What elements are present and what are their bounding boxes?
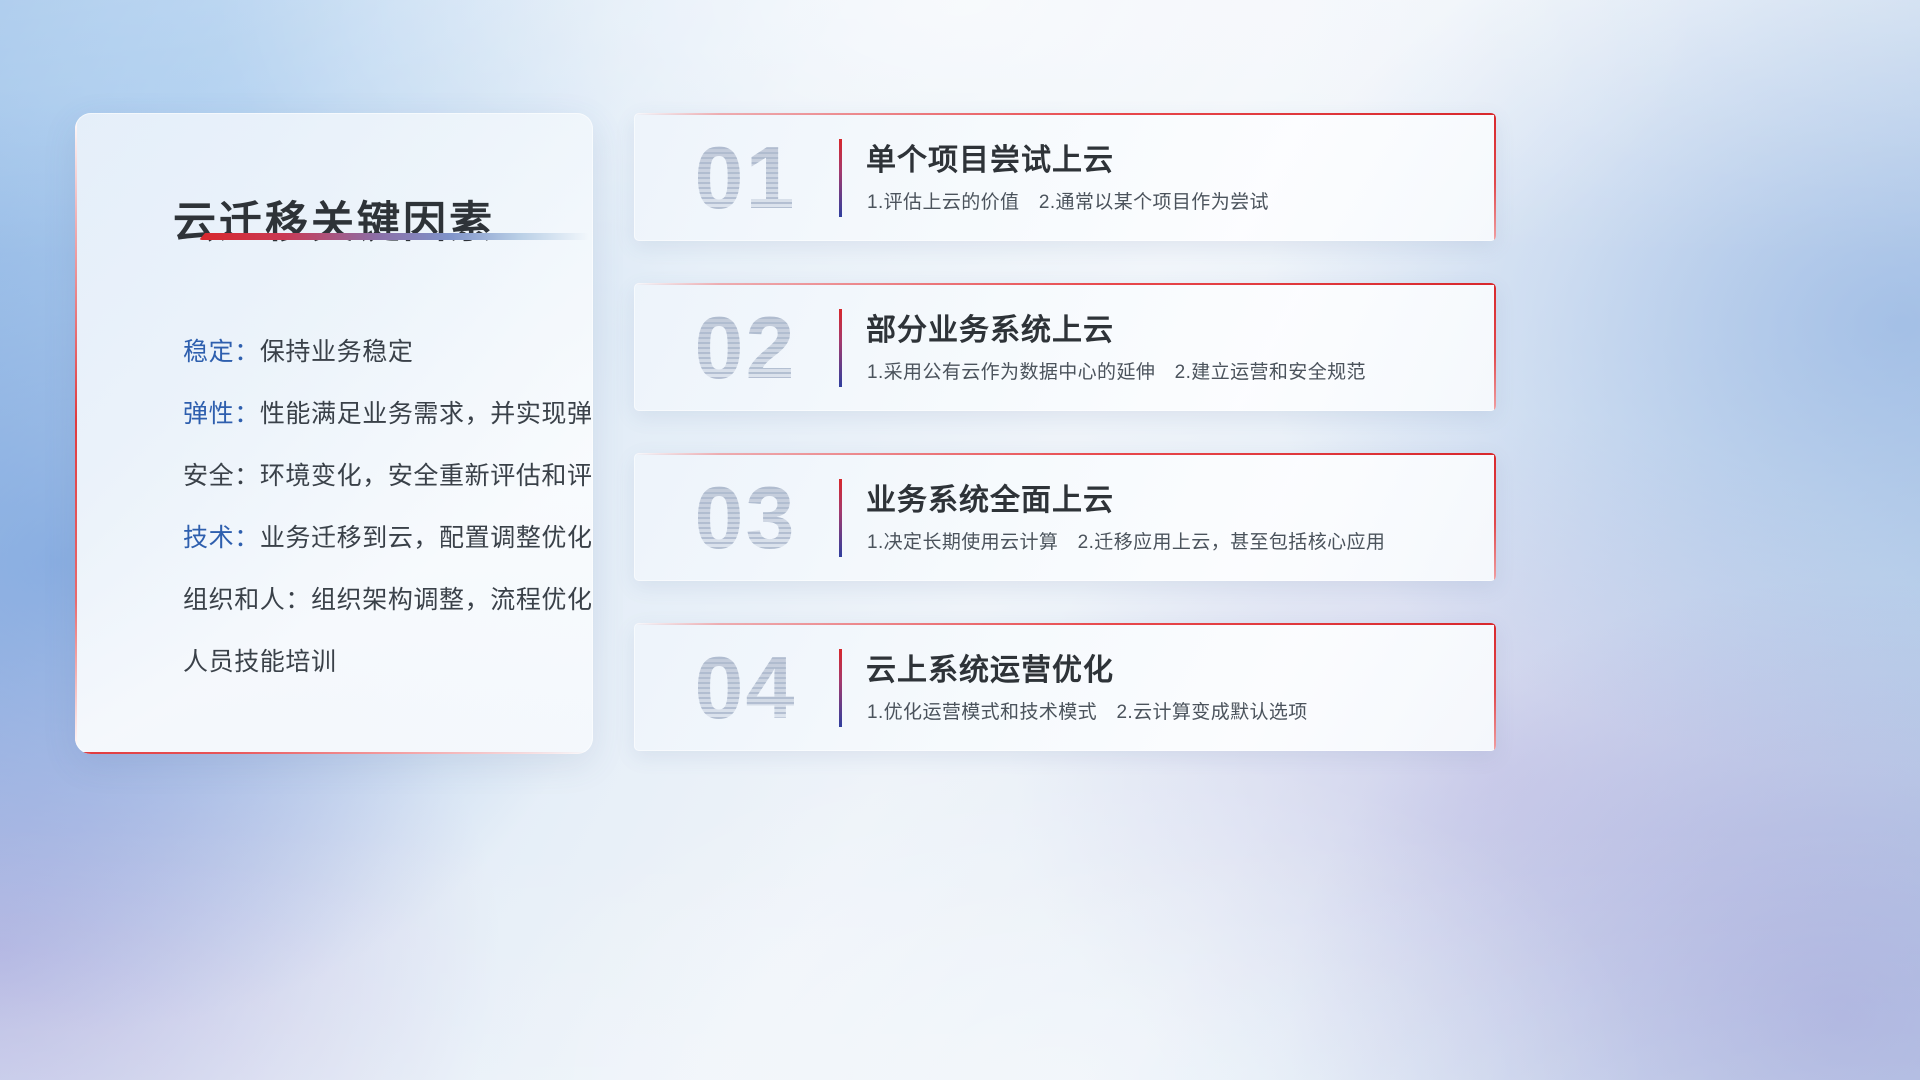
factor-label: 弹性： (183, 400, 260, 428)
stage-heading: 业务系统全面上云 (866, 475, 1472, 519)
title-underline-rule (199, 233, 589, 240)
factor-value: 环境变化，安全重新评估和评审 (260, 462, 593, 490)
stage-number: 01 (658, 127, 833, 229)
stage-divider-bar (839, 309, 842, 387)
stage-divider-bar (839, 479, 842, 557)
stage-description: 1.决定长期使用云计算 2.迁移应用上云，甚至包括核心应用 (867, 527, 1476, 554)
stage-heading: 单个项目尝试上云 (866, 135, 1472, 179)
stage-description: 1.优化运营模式和技术模式 2.云计算变成默认选项 (867, 697, 1476, 724)
stage-number: 03 (658, 467, 833, 569)
key-factors-list: 稳定：保持业务稳定弹性：性能满足业务需求，并实现弹性安全：环境变化，安全重新评估… (183, 321, 571, 693)
stage-number: 04 (658, 637, 833, 739)
factor-row: 人员技能培训 (183, 631, 571, 693)
stage-description: 1.评估上云的价值 2.通常以某个项目作为尝试 (867, 187, 1476, 214)
factor-label: 稳定： (183, 338, 260, 366)
factor-value: 业务迁移到云，配置调整优化 (260, 524, 593, 552)
factor-value: 组织架构调整，流程优化， (311, 586, 593, 614)
stage-card[interactable]: 02部分业务系统上云1.采用公有云作为数据中心的延伸 2.建立运营和安全规范 (634, 283, 1496, 411)
stage-heading: 部分业务系统上云 (866, 305, 1472, 349)
migration-stage-list: 01单个项目尝试上云1.评估上云的价值 2.通常以某个项目作为尝试02部分业务系… (634, 113, 1496, 793)
stage-card[interactable]: 03业务系统全面上云1.决定长期使用云计算 2.迁移应用上云，甚至包括核心应用 (634, 453, 1496, 581)
stage-divider-bar (839, 649, 842, 727)
factor-value: 保持业务稳定 (260, 338, 414, 366)
stage-number: 02 (658, 297, 833, 399)
factor-row: 组织和人：组织架构调整，流程优化， (183, 569, 571, 631)
key-factors-panel: 云迁移关键因素 稳定：保持业务稳定弹性：性能满足业务需求，并实现弹性安全：环境变… (75, 113, 593, 754)
stage-heading: 云上系统运营优化 (866, 645, 1472, 689)
factor-row: 稳定：保持业务稳定 (183, 321, 571, 383)
factor-value: 人员技能培训 (183, 648, 337, 676)
factor-label: 组织和人： (183, 586, 311, 614)
stage-divider-bar (839, 139, 842, 217)
page-title: 云迁移关键因素 (75, 188, 593, 250)
factor-label: 技术： (183, 524, 260, 552)
stage-description: 1.采用公有云作为数据中心的延伸 2.建立运营和安全规范 (867, 357, 1476, 384)
factor-row: 技术：业务迁移到云，配置调整优化 (183, 507, 571, 569)
factor-label: 安全： (183, 462, 260, 490)
stage-card[interactable]: 01单个项目尝试上云1.评估上云的价值 2.通常以某个项目作为尝试 (634, 113, 1496, 241)
factor-row: 安全：环境变化，安全重新评估和评审 (183, 445, 571, 507)
factor-value: 性能满足业务需求，并实现弹性 (260, 400, 593, 428)
factor-row: 弹性：性能满足业务需求，并实现弹性 (183, 383, 571, 445)
stage-card[interactable]: 04云上系统运营优化1.优化运营模式和技术模式 2.云计算变成默认选项 (634, 623, 1496, 751)
